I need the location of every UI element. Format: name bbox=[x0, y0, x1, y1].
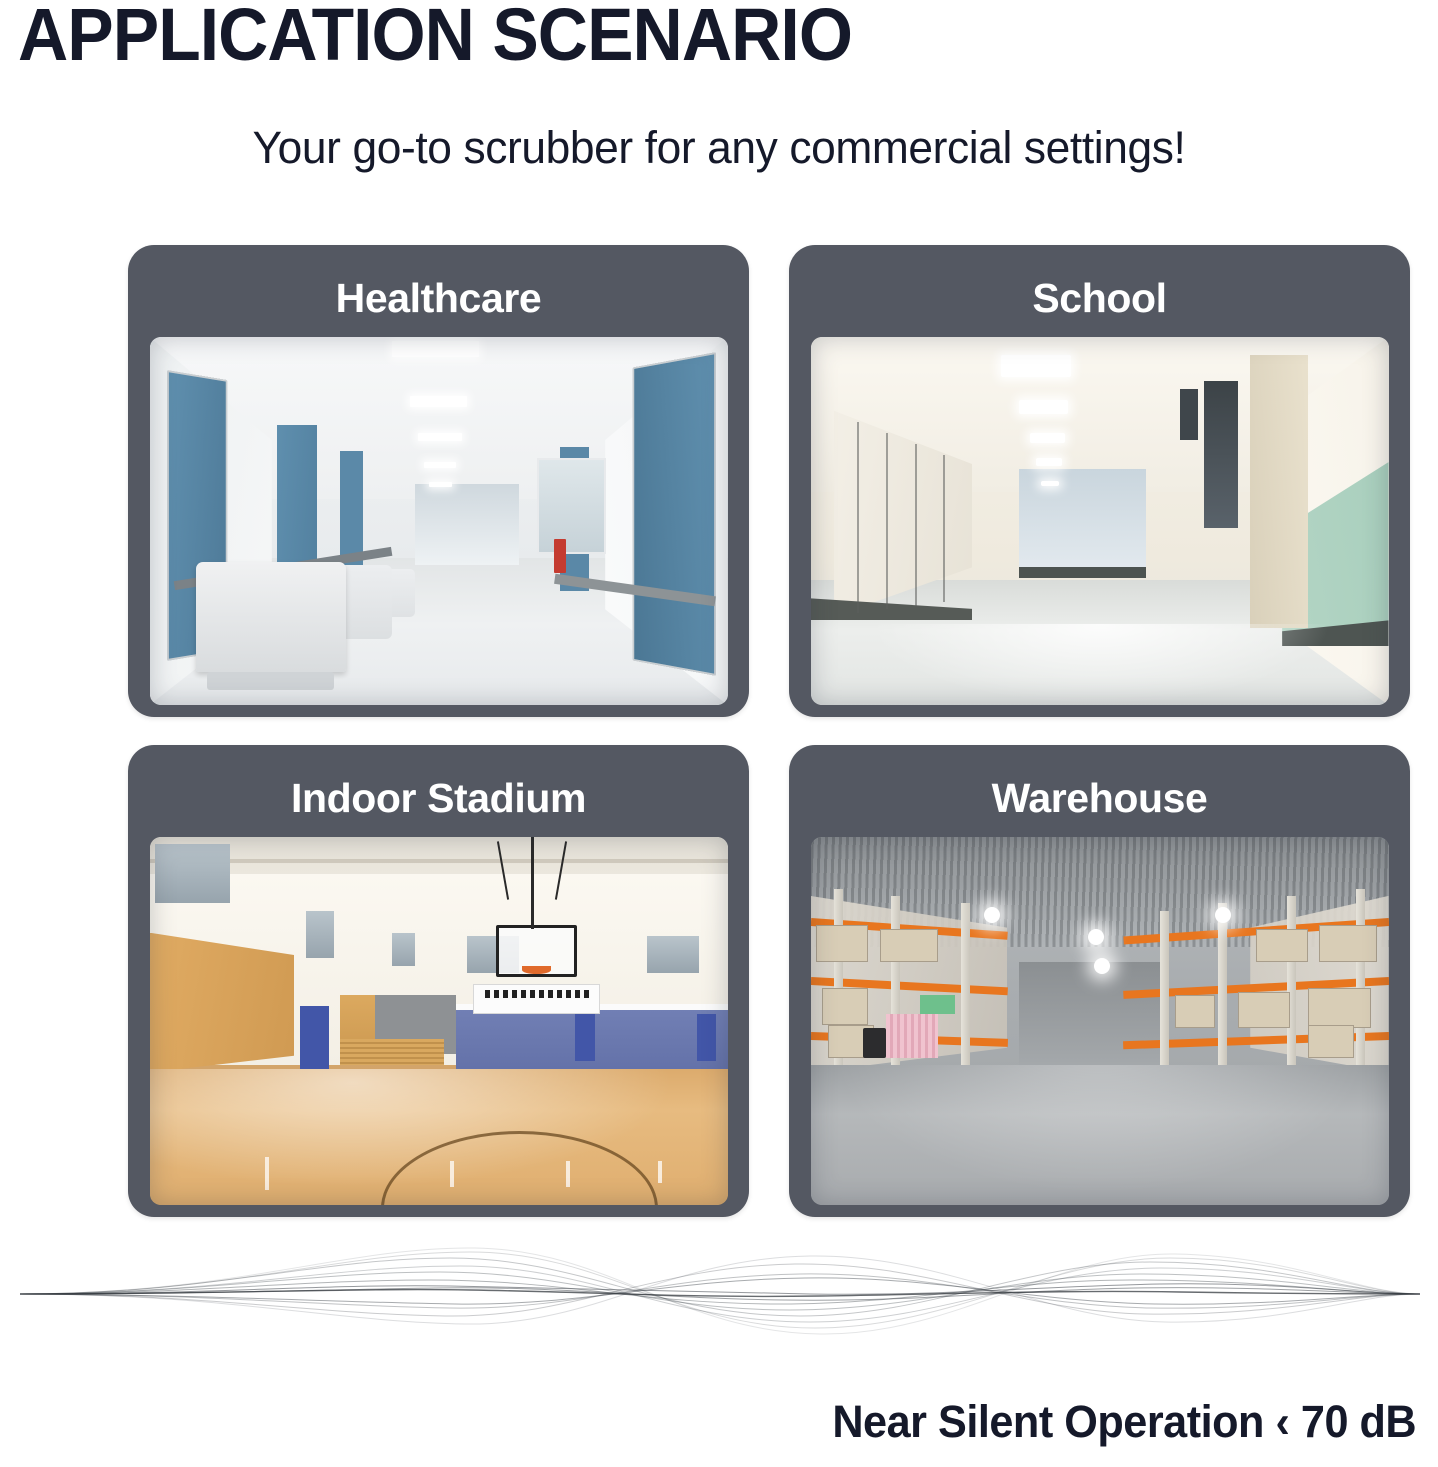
footer-caption: Near Silent Operation ‹ 70 dB bbox=[832, 1396, 1416, 1448]
photo-healthcare bbox=[150, 337, 728, 705]
photo-indoor-stadium bbox=[150, 837, 728, 1205]
card-title-healthcare: Healthcare bbox=[336, 278, 542, 319]
page-title: APPLICATION SCENARIO bbox=[18, 0, 852, 74]
photo-warehouse bbox=[811, 837, 1389, 1205]
photo-school bbox=[811, 337, 1389, 705]
card-title-school: School bbox=[1032, 278, 1166, 319]
scenario-card-healthcare[interactable]: Healthcare bbox=[128, 245, 749, 717]
sound-wave-icon bbox=[20, 1232, 1420, 1352]
scenario-row-bottom: Indoor Stadium bbox=[128, 745, 1410, 1217]
card-title-warehouse: Warehouse bbox=[992, 778, 1208, 819]
application-scenario-infographic: APPLICATION SCENARIO Your go-to scrubber… bbox=[0, 0, 1438, 1467]
scenario-card-school[interactable]: School bbox=[789, 245, 1410, 717]
scenario-row-top: Healthcare School bbox=[128, 245, 1410, 717]
scenario-card-indoor-stadium[interactable]: Indoor Stadium bbox=[128, 745, 749, 1217]
scenario-card-grid: Healthcare School bbox=[128, 245, 1410, 1217]
card-title-indoor-stadium: Indoor Stadium bbox=[291, 778, 586, 819]
page-subtitle: Your go-to scrubber for any commercial s… bbox=[11, 122, 1427, 174]
scenario-card-warehouse[interactable]: Warehouse bbox=[789, 745, 1410, 1217]
